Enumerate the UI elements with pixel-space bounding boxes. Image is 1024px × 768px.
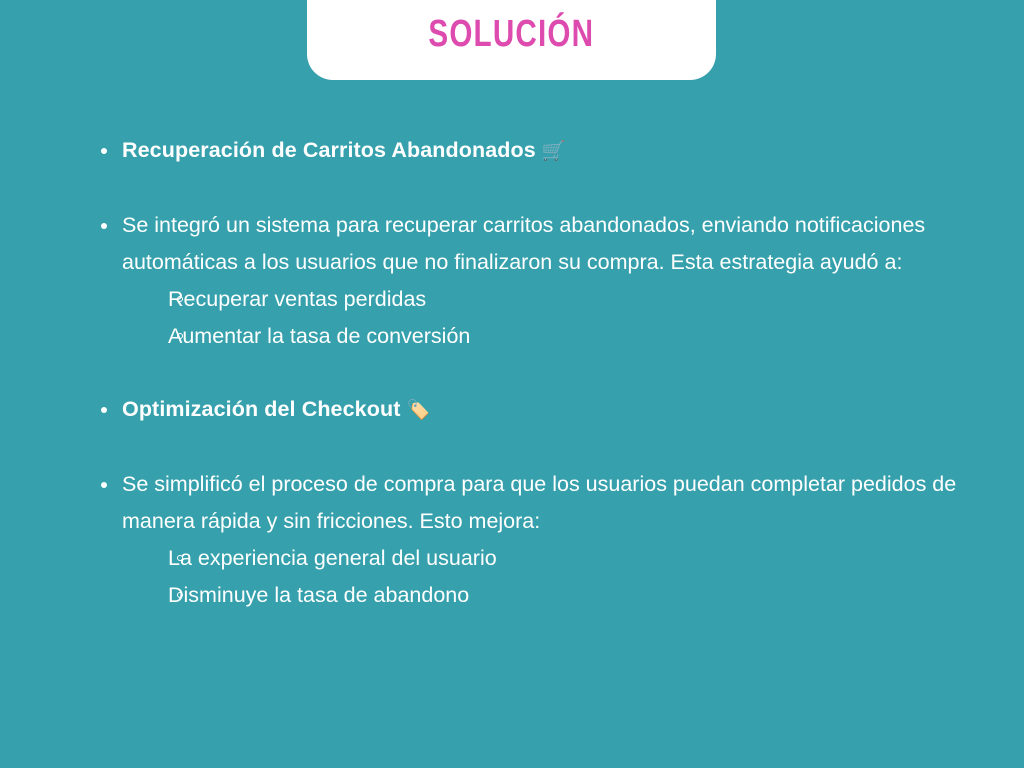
title-card: SOLUCIÓN [307,0,716,80]
section-paragraph: Se simplificó el proceso de compra para … [90,466,990,614]
section-paragraph: Se integró un sistema para recuperar car… [90,207,990,355]
list-item: La experiencia general del usuario [122,540,990,577]
section-paragraph-text: Se simplificó el proceso de compra para … [122,472,956,533]
list-item: Recuperar ventas perdidas [122,281,990,318]
label-tag-icon: 🏷️ [400,399,430,421]
section-heading-text: Optimización del Checkout [122,397,400,421]
sub-bullet-text: Aumentar la tasa de conversión [168,324,470,348]
sub-bullet-text: Recuperar ventas perdidas [168,287,426,311]
sub-bullet-text: La experiencia general del usuario [168,546,497,570]
slide-content: Recuperación de Carritos Abandonados 🛒 S… [90,132,990,614]
shopping-cart-icon: 🛒 [536,140,566,162]
sub-bullet-text: Disminuye la tasa de abandono [168,583,469,607]
bullet-list: Recuperación de Carritos Abandonados 🛒 S… [90,132,990,614]
section-heading-text: Recuperación de Carritos Abandonados [122,138,536,162]
section-paragraph-text: Se integró un sistema para recuperar car… [122,213,925,274]
list-item: Disminuye la tasa de abandono [122,577,990,614]
spacer [90,429,990,466]
list-item: Aumentar la tasa de conversión [122,318,990,355]
spacer [90,355,990,391]
sub-bullet-list: La experiencia general del usuario Dismi… [122,540,990,614]
sub-bullet-list: Recuperar ventas perdidas Aumentar la ta… [122,281,990,355]
section-heading: Optimización del Checkout 🏷️ [90,391,990,429]
spacer [90,170,990,207]
slide-root: SOLUCIÓN Recuperación de Carritos Abando… [0,0,1024,768]
page-title: SOLUCIÓN [429,14,595,54]
section-heading: Recuperación de Carritos Abandonados 🛒 [90,132,990,170]
